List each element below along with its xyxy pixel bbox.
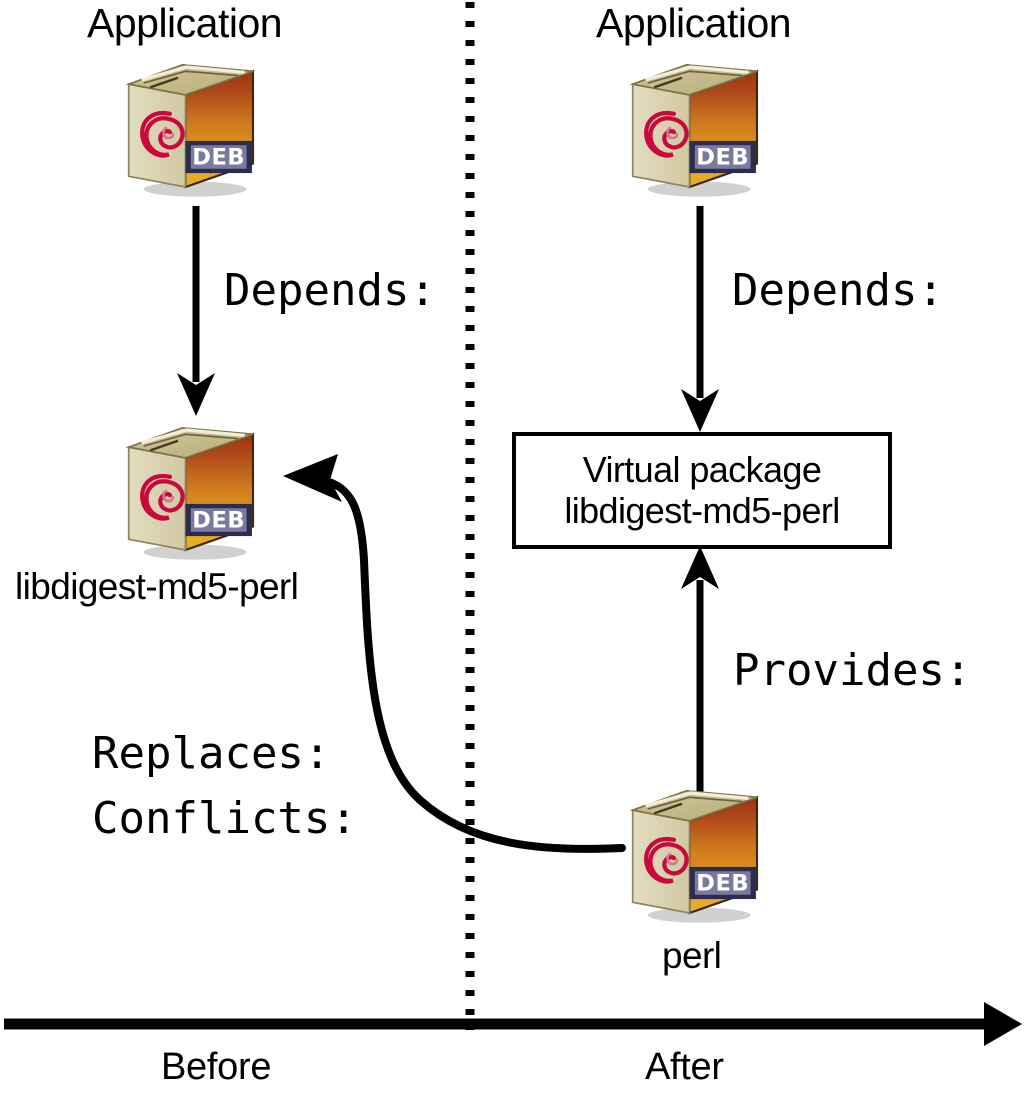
virtual-package-line-1: Virtual package — [583, 450, 822, 490]
deb-package-icon-right-application — [633, 65, 757, 197]
provides-label: Provides: — [733, 645, 971, 696]
right-depends-label: Depends: — [732, 265, 944, 316]
deb-package-icon-perl — [633, 791, 757, 923]
libdigest-md5-perl-caption: libdigest-md5-perl — [15, 566, 298, 608]
right-depends-arrow — [681, 206, 719, 432]
deb-package-icon-libdigest-md5-perl — [129, 428, 253, 560]
conflicts-label: Conflicts: — [92, 793, 357, 844]
left-application-header: Application — [87, 0, 282, 47]
timeline-axis — [4, 1002, 1022, 1046]
diagram-canvas: DEB — [0, 0, 1024, 1094]
right-application-header: Application — [596, 0, 791, 47]
left-depends-arrow — [177, 206, 215, 416]
provides-arrow — [681, 546, 719, 812]
replaces-label: Replaces: — [92, 728, 330, 779]
timeline-before-label: Before — [161, 1046, 271, 1089]
virtual-package-box: Virtual package libdigest-md5-perl — [512, 432, 892, 549]
timeline-after-label: After — [645, 1046, 724, 1089]
perl-caption: perl — [662, 935, 721, 977]
virtual-package-line-2: libdigest-md5-perl — [564, 491, 839, 531]
deb-package-icon-left-application — [129, 65, 253, 197]
left-depends-label: Depends: — [224, 265, 436, 316]
